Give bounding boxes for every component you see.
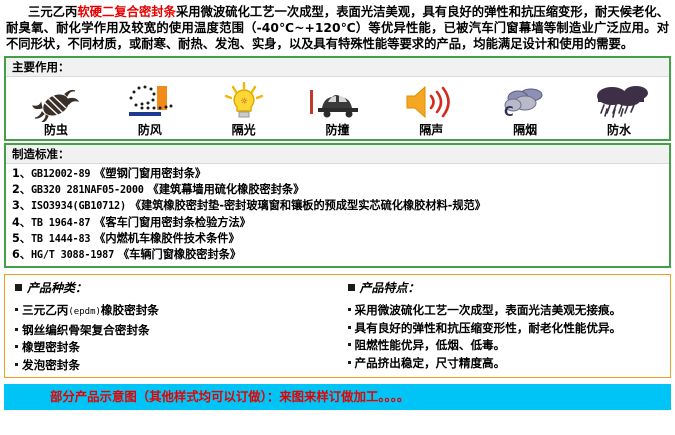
standards-panel: 制造标准： 1、GB12002-89 《塑钢门窗用密封条》 2、GB320 28…	[4, 143, 671, 268]
car-crash-icon	[295, 82, 379, 122]
standard-name: 《建筑橡胶密封垫-密封玻璃窗和镶板的预成型实芯硫化橡胶材料-规范》	[130, 199, 486, 212]
functions-icon-row: 防虫	[6, 77, 669, 139]
dot-bullet-icon	[348, 308, 351, 311]
function-item-light: ☼ 隔光	[202, 82, 286, 137]
product-features-column: 产品特点： 采用微波硫化工艺一次成型，表面光洁美观无接痕。 具有良好的弹性和抗压…	[338, 275, 671, 377]
intro-paragraph: 三元乙丙软硬二复合密封条采用微波硫化工艺一次成型，表面光洁美观，具有良好的弹性和…	[0, 0, 675, 54]
product-feature-text: 阻燃性能优异，低烟、低毒。	[355, 338, 506, 352]
product-type-item: 钢丝编织骨架复合密封条	[15, 322, 330, 340]
rain-cloud-icon	[577, 82, 661, 122]
product-feature-item: 产品挤出稳定，尺寸精度高。	[348, 355, 663, 373]
custom-order-banner: 部分产品示意图（其他样式均可以订做）：来图来样订做加工。。。。	[4, 384, 671, 410]
product-types-title-text: 产品种类：	[27, 281, 87, 295]
product-features-title-text: 产品特点：	[360, 281, 420, 295]
product-type-tail: 橡胶密封条	[101, 303, 159, 317]
functions-panel: 主要作用：	[4, 56, 671, 141]
square-bullet-icon	[15, 284, 22, 291]
standard-code: TB 1444-83	[31, 234, 90, 245]
speaker-sound-icon	[389, 82, 473, 122]
dot-bullet-icon	[15, 363, 18, 366]
product-types-title: 产品种类：	[15, 280, 330, 296]
product-type-main: 发泡密封条	[22, 358, 80, 372]
product-type-main: 橡塑密封条	[22, 340, 80, 354]
intro-text-part1: 三元乙丙	[28, 5, 77, 19]
product-type-main: 三元乙丙	[22, 303, 68, 317]
wind-icon	[108, 82, 192, 122]
dot-bullet-icon	[15, 328, 18, 331]
lightbulb-icon: ☼	[202, 82, 286, 122]
product-feature-item: 采用微波硫化工艺一次成型，表面光洁美观无接痕。	[348, 302, 663, 320]
smoke-cloud-icon: C	[483, 82, 567, 122]
function-label-smoke: 隔烟	[483, 123, 567, 137]
product-type-item: 橡塑密封条	[15, 339, 330, 357]
function-item-smoke: C 隔烟	[483, 82, 567, 137]
function-label-light: 隔光	[202, 123, 286, 137]
dot-bullet-icon	[15, 308, 18, 311]
standard-item: 1、GB12002-89 《塑钢门窗用密封条》	[12, 166, 663, 182]
function-item-sound: 隔声	[389, 82, 473, 137]
standard-item: 3、ISO3934(GB10712) 《建筑橡胶密封垫-密封玻璃窗和镶板的预成型…	[12, 198, 663, 214]
standard-name: 《建筑幕墙用硫化橡胶密封条》	[148, 183, 305, 196]
standard-name: 《内燃机车橡胶件技术条件》	[94, 232, 239, 245]
function-label-water: 防水	[577, 123, 661, 137]
standard-name: 《车辆门窗橡胶密封条》	[118, 248, 241, 261]
standard-code: TB 1964-87	[31, 218, 90, 229]
function-label-sound: 隔声	[389, 123, 473, 137]
product-feature-item: 阻燃性能优异，低烟、低毒。	[348, 337, 663, 355]
dot-bullet-icon	[348, 343, 351, 346]
product-type-main: 钢丝编织骨架复合密封条	[22, 323, 150, 337]
square-bullet-icon	[348, 284, 355, 291]
product-info-page: 三元乙丙软硬二复合密封条采用微波硫化工艺一次成型，表面光洁美观，具有良好的弹性和…	[0, 0, 675, 435]
function-item-bug: 防虫	[14, 82, 98, 137]
standard-code: GB320 281NAF05-2000	[31, 185, 144, 196]
product-type-item: 三元乙丙(epdm)橡胶密封条	[15, 302, 330, 322]
product-feature-text: 产品挤出稳定，尺寸精度高。	[355, 356, 506, 370]
dot-bullet-icon	[348, 326, 351, 329]
standard-name: 《塑钢门窗用密封条》	[94, 167, 206, 180]
standard-index: 1、	[12, 167, 31, 180]
product-type-sub: (epdm)	[68, 307, 101, 317]
intro-highlight-text: 软硬二复合密封条	[77, 5, 176, 19]
function-label-bug: 防虫	[14, 123, 98, 137]
standard-item: 4、TB 1964-87 《客车门窗用密封条检验方法》	[12, 215, 663, 231]
svg-text:C: C	[504, 105, 514, 120]
standard-item: 5、TB 1444-83 《内燃机车橡胶件技术条件》	[12, 231, 663, 247]
dot-bullet-icon	[15, 345, 18, 348]
standard-item: 6、HG/T 3088-1987 《车辆门窗橡胶密封条》	[12, 247, 663, 263]
types-and-features-panel: 产品种类： 三元乙丙(epdm)橡胶密封条 钢丝编织骨架复合密封条 橡塑密封条 …	[4, 274, 671, 378]
standard-index: 2、	[12, 183, 31, 196]
product-types-column: 产品种类： 三元乙丙(epdm)橡胶密封条 钢丝编织骨架复合密封条 橡塑密封条 …	[5, 275, 338, 377]
standard-code: ISO3934(GB10712)	[31, 201, 126, 212]
standard-index: 5、	[12, 232, 31, 245]
standard-name: 《客车门窗用密封条检验方法》	[94, 216, 251, 229]
standard-index: 4、	[12, 216, 31, 229]
standard-code: HG/T 3088-1987	[31, 250, 114, 261]
functions-panel-title: 主要作用：	[6, 58, 669, 77]
function-item-wind: 防风	[108, 82, 192, 137]
product-type-item: 发泡密封条	[15, 357, 330, 375]
function-label-wind: 防风	[108, 123, 192, 137]
function-label-crash: 防撞	[295, 123, 379, 137]
product-features-title: 产品特点：	[348, 280, 663, 296]
standard-item: 2、GB320 281NAF05-2000 《建筑幕墙用硫化橡胶密封条》	[12, 182, 663, 198]
svg-text:☼: ☼	[240, 97, 248, 107]
product-feature-text: 采用微波硫化工艺一次成型，表面光洁美观无接痕。	[355, 303, 622, 317]
dot-bullet-icon	[348, 361, 351, 364]
bug-icon	[14, 82, 98, 122]
product-feature-item: 具有良好的弹性和抗压缩变形性，耐老化性能优异。	[348, 320, 663, 338]
function-item-crash: 防撞	[295, 82, 379, 137]
product-feature-text: 具有良好的弹性和抗压缩变形性，耐老化性能优异。	[355, 321, 622, 335]
standards-list: 1、GB12002-89 《塑钢门窗用密封条》 2、GB320 281NAF05…	[6, 164, 669, 266]
standards-panel-title: 制造标准：	[6, 145, 669, 164]
function-item-water: 防水	[577, 82, 661, 137]
standard-index: 6、	[12, 248, 31, 261]
standard-index: 3、	[12, 199, 31, 212]
standard-code: GB12002-89	[31, 169, 90, 180]
